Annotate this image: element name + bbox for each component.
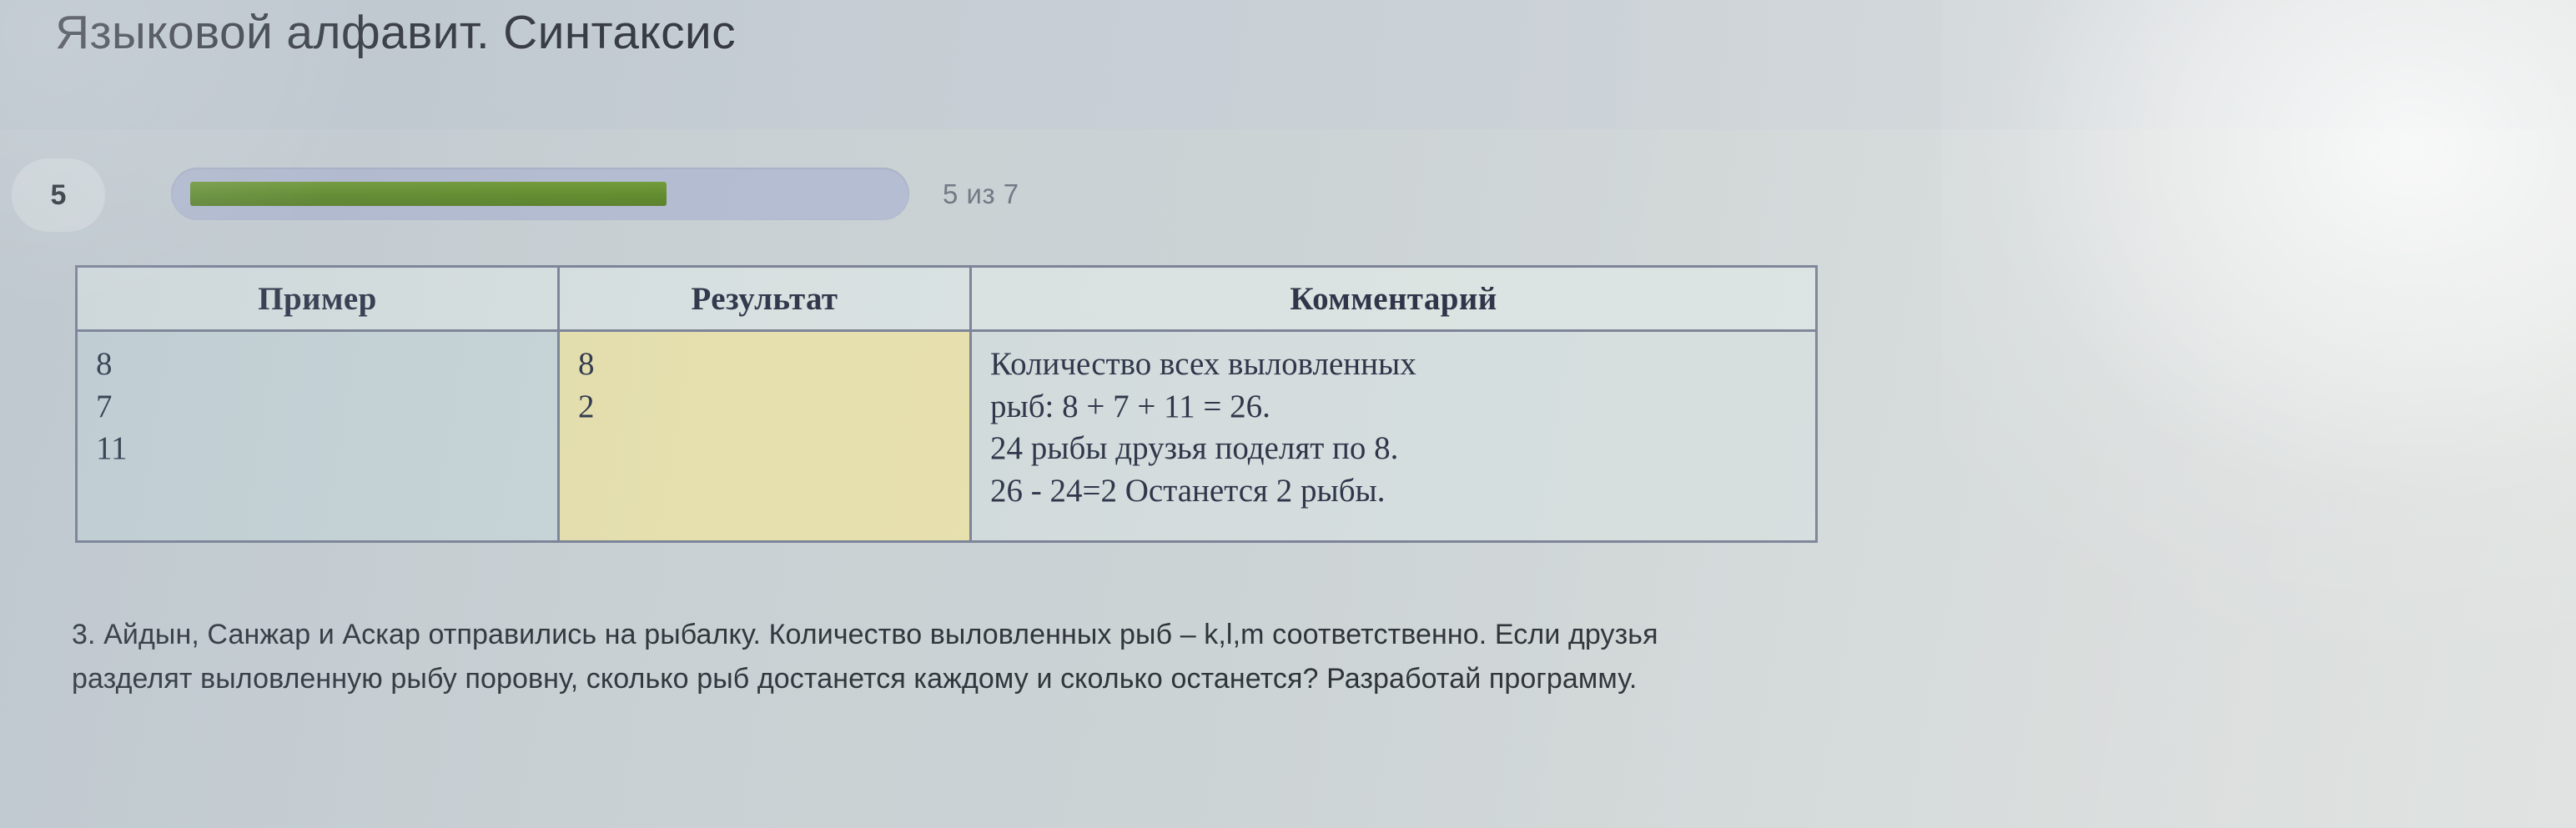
lesson-body: 5 5 из 7 Пример Результат Комментарий	[0, 129, 2576, 828]
example-value: 8	[96, 344, 557, 386]
task-line: разделят выловленную рыбу поровну, сколь…	[72, 657, 2541, 701]
table-row: 8 7 11 8 2 Количество всех выловленных р…	[77, 331, 1817, 542]
comment-line: Количество всех выловленных	[990, 344, 1815, 386]
example-value: 7	[96, 386, 557, 429]
cell-result: 8 2	[559, 331, 971, 542]
progress-counter-label: 5 из 7	[943, 178, 1019, 210]
comment-line: рыб: 8 + 7 + 11 = 26.	[990, 386, 1815, 429]
progress-bar-track[interactable]	[171, 168, 909, 220]
result-value: 2	[578, 386, 969, 429]
cell-example: 8 7 11	[77, 331, 559, 542]
progress-row: 5 5 из 7	[0, 158, 2576, 233]
comment-line: 24 рыбы друзья поделят по 8.	[990, 428, 1815, 470]
page-title: Языковой алфавит. Синтаксис	[55, 5, 736, 60]
progress-bar-fill	[190, 182, 667, 206]
cell-comment: Количество всех выловленных рыб: 8 + 7 +…	[971, 331, 1817, 542]
task-line: 3. Айдын, Санжар и Аскар отправились на …	[72, 613, 2541, 657]
lesson-screen: Языковой алфавит. Синтаксис 5 5 из 7 При…	[0, 0, 2576, 828]
example-value: 11	[96, 428, 557, 470]
table-header-row: Пример Результат Комментарий	[77, 267, 1817, 331]
step-number-badge[interactable]: 5	[12, 158, 105, 232]
column-header-example: Пример	[77, 267, 559, 331]
task-description: 3. Айдын, Санжар и Аскар отправились на …	[72, 613, 2541, 700]
example-table: Пример Результат Комментарий 8 7 11 8 2	[75, 265, 1818, 543]
column-header-result: Результат	[559, 267, 971, 331]
column-header-comment: Комментарий	[971, 267, 1817, 331]
result-value: 8	[578, 344, 969, 386]
comment-line: 26 - 24=2 Останется 2 рыбы.	[990, 470, 1815, 513]
header-band: Языковой алфавит. Синтаксис	[0, 0, 2576, 132]
